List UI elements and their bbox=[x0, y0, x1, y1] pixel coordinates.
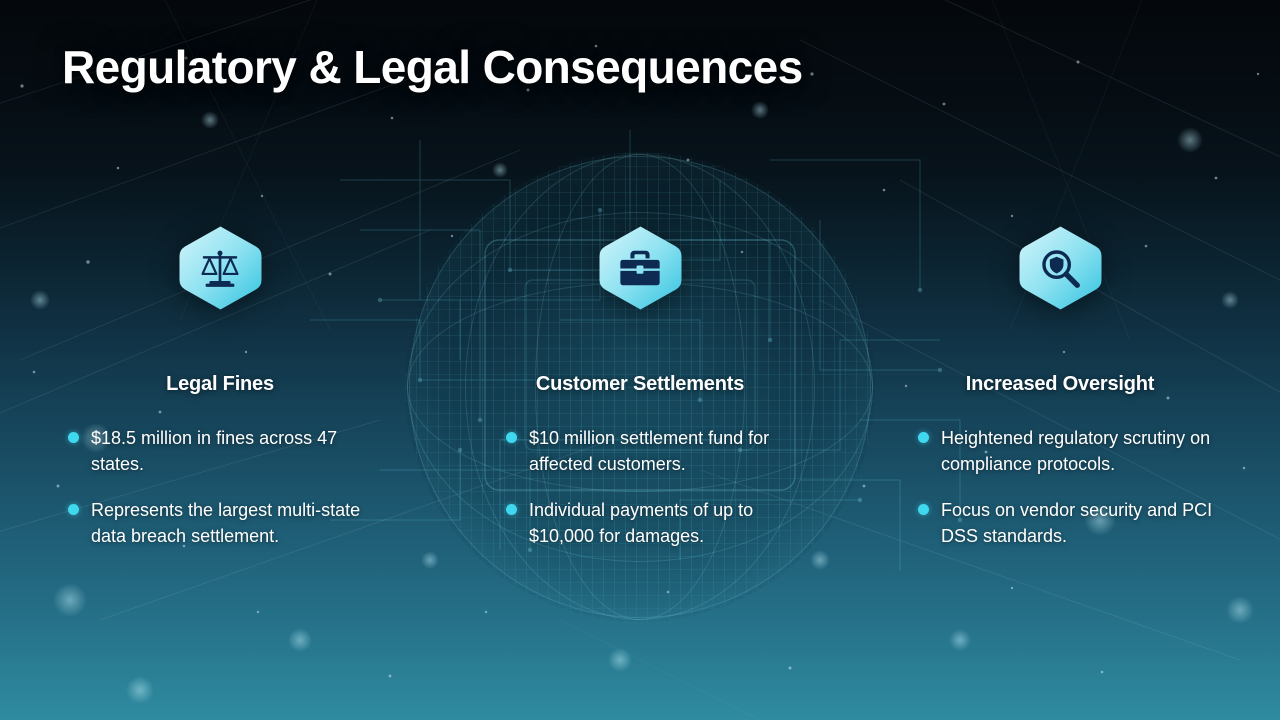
bullet-dot-icon bbox=[918, 432, 929, 443]
bullet-list: $10 million settlement fund for affected… bbox=[498, 425, 810, 549]
briefcase-icon bbox=[617, 245, 663, 291]
bullet-list: Heightened regulatory scrutiny on compli… bbox=[910, 425, 1230, 549]
list-item: Focus on vendor security and PCI DSS sta… bbox=[910, 497, 1241, 549]
column-heading: Customer Settlements bbox=[470, 373, 810, 396]
column-increased-oversight: Increased Oversight Heightened regulator… bbox=[890, 225, 1230, 565]
bullet-text: Focus on vendor security and PCI DSS sta… bbox=[941, 500, 1212, 546]
hexagon-badge bbox=[597, 225, 684, 311]
list-item: Individual payments of up to $10,000 for… bbox=[498, 497, 821, 549]
list-item: $18.5 million in fines across 47 states. bbox=[60, 425, 383, 477]
bullet-dot-icon bbox=[68, 432, 79, 443]
list-item: Represents the largest multi-state data … bbox=[60, 497, 383, 549]
presentation-slide: Regulatory & Legal Consequences bbox=[0, 0, 1280, 720]
icon-container bbox=[890, 225, 1230, 325]
icon-container bbox=[50, 225, 390, 325]
list-item: Heightened regulatory scrutiny on compli… bbox=[910, 425, 1241, 477]
bullet-dot-icon bbox=[506, 432, 517, 443]
column-customer-settlements: Customer Settlements $10 million settlem… bbox=[470, 225, 810, 565]
column-legal-fines: Legal Fines $18.5 million in fines acros… bbox=[50, 225, 390, 565]
icon-container bbox=[470, 225, 810, 325]
bullet-list: $18.5 million in fines across 47 states.… bbox=[60, 425, 390, 549]
list-item: $10 million settlement fund for affected… bbox=[498, 425, 821, 477]
bullet-dot-icon bbox=[506, 504, 517, 515]
magnifier-shield-icon bbox=[1037, 245, 1083, 291]
column-heading: Increased Oversight bbox=[890, 373, 1230, 396]
bullet-text: Heightened regulatory scrutiny on compli… bbox=[941, 428, 1210, 474]
hexagon-badge bbox=[177, 225, 264, 311]
scales-of-justice-icon bbox=[197, 245, 243, 291]
bullet-text: $10 million settlement fund for affected… bbox=[529, 428, 769, 474]
bullet-text: Represents the largest multi-state data … bbox=[91, 500, 360, 546]
bullet-text: Individual payments of up to $10,000 for… bbox=[529, 500, 753, 546]
bullet-dot-icon bbox=[68, 504, 79, 515]
bullet-dot-icon bbox=[918, 504, 929, 515]
column-heading: Legal Fines bbox=[50, 373, 390, 396]
bullet-text: $18.5 million in fines across 47 states. bbox=[91, 428, 337, 474]
page-title: Regulatory & Legal Consequences bbox=[62, 40, 803, 94]
hexagon-badge bbox=[1017, 225, 1104, 311]
